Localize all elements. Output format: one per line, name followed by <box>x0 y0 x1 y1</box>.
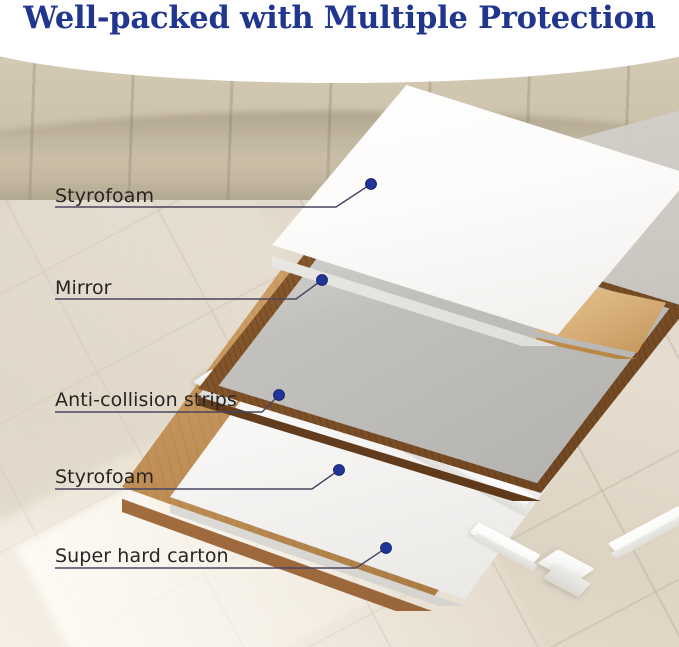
callout-label-styrofoam-bottom: Styrofoam <box>55 466 154 488</box>
product-packaging-infographic: Well-packed with Multiple Protection <box>0 0 679 647</box>
callout-label-mirror: Mirror <box>55 277 112 299</box>
page-title: Well-packed with Multiple Protection <box>0 0 679 38</box>
callout-label-anti-collision-strips: Anti-collision strips <box>55 389 237 411</box>
callout-label-super-hard-carton: Super hard carton <box>55 545 229 567</box>
packaging-exploded-view: StyrofoamMirrorAnti-collision stripsStyr… <box>0 37 679 647</box>
callout-label-styrofoam-top: Styrofoam <box>55 185 154 207</box>
